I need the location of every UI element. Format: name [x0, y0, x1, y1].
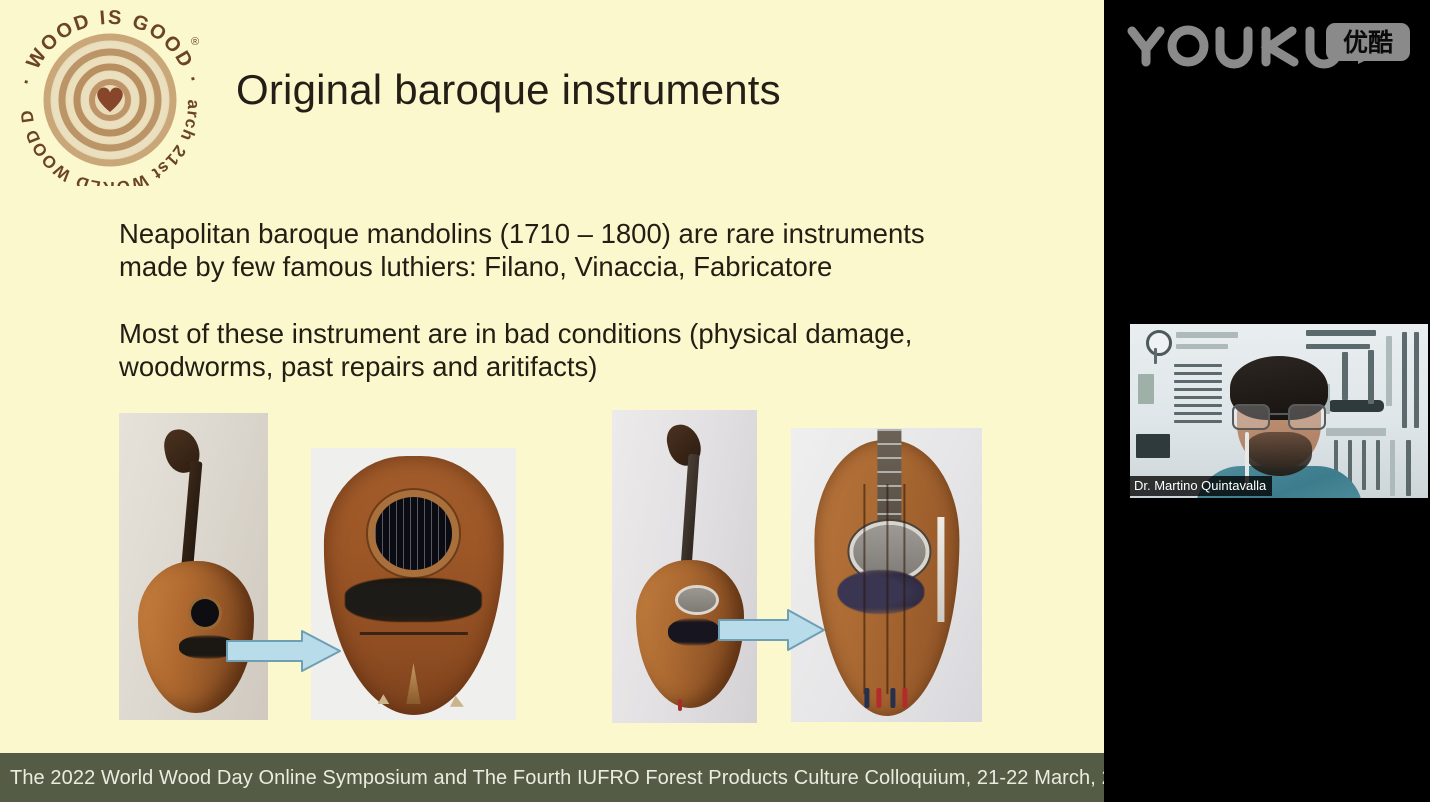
glasses-lens-left	[1232, 404, 1270, 430]
tool	[1174, 420, 1222, 423]
paragraph-1-line-2: made by few famous luthiers: Filano, Vin…	[119, 250, 1019, 283]
photo-soundboard-closeup-1	[311, 448, 516, 720]
photo-mandolin-full-1	[119, 413, 268, 720]
glasses-lens-right	[1288, 404, 1326, 430]
bridge	[359, 632, 467, 635]
tool	[1306, 330, 1376, 336]
tool	[1414, 332, 1419, 428]
tool	[1326, 428, 1386, 436]
tool	[1174, 380, 1222, 383]
paragraph-2-line-2: woodworms, past repairs and aritifacts)	[119, 350, 1019, 383]
tool	[1362, 440, 1366, 490]
string-end-2	[876, 688, 881, 708]
transition-arrow-1	[226, 629, 342, 673]
photo-soundboard-closeup-2	[791, 428, 982, 722]
tailpiece	[406, 663, 420, 704]
tool	[1136, 434, 1170, 458]
registered-mark: ®	[191, 36, 199, 48]
soundhole	[191, 599, 219, 627]
repair-strip	[937, 517, 944, 622]
gauge-tool-icon	[1146, 330, 1172, 356]
tool	[1174, 404, 1222, 407]
pickguard-black	[345, 578, 482, 622]
string-end-1	[865, 688, 870, 708]
string-end-4	[902, 688, 907, 708]
youku-latin-text	[1132, 30, 1338, 64]
paragraph-1-line-1: Neapolitan baroque mandolins (1710 – 180…	[119, 217, 1019, 250]
footer-text: The 2022 World Wood Day Online Symposium…	[10, 767, 1104, 790]
fretboard	[878, 429, 901, 540]
tool	[1176, 332, 1238, 338]
tool	[1342, 352, 1348, 400]
tool	[1138, 374, 1154, 404]
glasses-icon	[1232, 404, 1326, 426]
youku-chinese-text: 优酷	[1326, 23, 1410, 61]
rosette	[678, 588, 716, 612]
video-player-sidebar: 优酷	[1104, 0, 1430, 802]
mandolin-illustration	[119, 413, 268, 720]
photo-mandolin-full-2	[612, 410, 757, 723]
tool	[1328, 400, 1384, 412]
paragraph-1: Neapolitan baroque mandolins (1710 – 180…	[119, 217, 1019, 283]
paragraph-2-line-1: Most of these instrument are in bad cond…	[119, 317, 1019, 350]
tool	[1402, 332, 1407, 428]
tool	[1154, 348, 1157, 364]
tool	[1390, 440, 1395, 496]
presentation-slide: · WOOD IS GOOD · March 21st WORLD WOOD D…	[0, 0, 1104, 802]
string-end-red	[678, 699, 682, 711]
stain-patches	[668, 618, 720, 646]
tool	[1176, 344, 1228, 349]
slide-footer: The 2022 World Wood Day Online Symposium…	[0, 753, 1104, 802]
page-title: Original baroque instruments	[236, 66, 781, 114]
world-wood-day-logo: · WOOD IS GOOD · March 21st WORLD WOOD D…	[8, 4, 212, 186]
webcam-video: Dr. Martino Quintavalla	[1128, 322, 1430, 500]
youku-chinese-badge: 优酷	[1326, 23, 1410, 61]
speaker-name-label: Dr. Martino Quintavalla	[1128, 476, 1272, 496]
screen-root: · WOOD IS GOOD · March 21st WORLD WOOD D…	[0, 0, 1430, 802]
tool	[1174, 412, 1222, 415]
tool	[1376, 440, 1380, 490]
webcam-tile[interactable]: Dr. Martino Quintavalla	[1128, 322, 1430, 500]
transition-arrow-2	[718, 608, 826, 652]
wood-chip-left	[377, 694, 389, 704]
tool	[1174, 388, 1222, 391]
crack-right	[904, 484, 906, 694]
tool	[1368, 350, 1374, 404]
tool	[1386, 336, 1392, 406]
soundhole	[375, 497, 453, 569]
tool	[1306, 344, 1370, 349]
paragraph-2: Most of these instrument are in bad cond…	[119, 317, 1019, 383]
crack-center	[887, 484, 889, 694]
tool	[1406, 440, 1411, 496]
crack-left	[863, 484, 865, 694]
glasses-bridge	[1268, 413, 1290, 415]
tool	[1174, 364, 1222, 367]
beard	[1246, 432, 1312, 476]
string-end-3	[891, 688, 896, 708]
mandolin-illustration	[612, 410, 757, 723]
stain-patch	[837, 570, 924, 614]
tool	[1174, 372, 1222, 375]
tool	[1174, 396, 1222, 399]
